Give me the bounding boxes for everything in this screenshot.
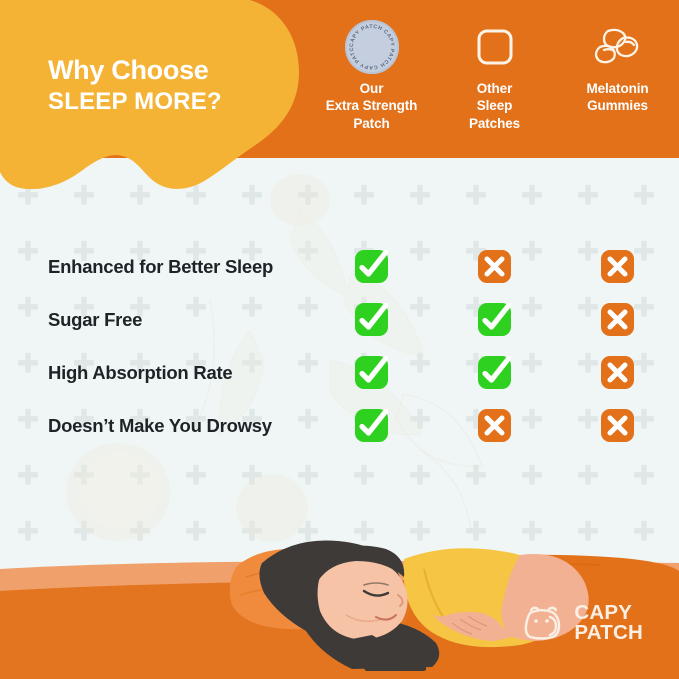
column-label-melatonin-gummies: Melatonin Gummies — [586, 80, 648, 115]
disc-ring-text: CAPY PATCH CAPY PATCH CAPY PATCH CAPY PA… — [345, 20, 395, 70]
x-mark-icon — [601, 303, 634, 336]
x-mark-icon — [601, 250, 634, 283]
row-marks — [310, 409, 679, 442]
feature-label: Enhanced for Better Sleep — [0, 256, 310, 278]
check-mark-icon — [355, 409, 388, 442]
comparison-table: Enhanced for Better Sleep — [0, 240, 679, 452]
row-marks — [310, 250, 679, 283]
capy-patch-disc-icon: CAPY PATCH CAPY PATCH CAPY PATCH CAPY PA… — [345, 18, 399, 76]
sleeping-woman-illustration — [0, 519, 679, 679]
x-mark-icon — [478, 409, 511, 442]
feature-label: High Absorption Rate — [0, 362, 310, 384]
title-line-2: SLEEP MORE? — [48, 86, 298, 117]
comparison-infographic: Why Choose SLEEP MORE? CAPY PATCH CAPY P… — [0, 0, 679, 679]
table-row: High Absorption Rate — [0, 346, 679, 399]
table-row: Doesn’t Make You Drowsy — [0, 399, 679, 452]
feature-label: Doesn’t Make You Drowsy — [0, 415, 310, 437]
x-mark-icon — [601, 409, 634, 442]
column-header-melatonin-gummies: Melatonin Gummies — [556, 0, 679, 160]
title-line-1: Why Choose — [48, 55, 298, 86]
column-header-our-patch: CAPY PATCH CAPY PATCH CAPY PATCH CAPY PA… — [310, 0, 433, 160]
feature-label: Sugar Free — [0, 309, 310, 331]
rounded-square-patch-icon — [475, 18, 515, 76]
mark-cell-our-patch — [310, 250, 433, 283]
page-title: Why Choose SLEEP MORE? — [48, 55, 298, 117]
check-mark-icon — [355, 250, 388, 283]
mark-cell-other-patches — [433, 250, 556, 283]
logo-wordmark: CAPY PATCH — [574, 603, 643, 643]
mark-cell-other-patches — [433, 356, 556, 389]
table-row: Enhanced for Better Sleep — [0, 240, 679, 293]
column-headers: CAPY PATCH CAPY PATCH CAPY PATCH CAPY PA… — [310, 0, 679, 160]
row-marks — [310, 356, 679, 389]
mark-cell-melatonin-gummies — [556, 409, 679, 442]
check-mark-icon — [478, 356, 511, 389]
mark-cell-melatonin-gummies — [556, 303, 679, 336]
mark-cell-melatonin-gummies — [556, 250, 679, 283]
logo-text-line2: PATCH — [574, 623, 643, 643]
svg-text:CAPY PATCH CAPY PATCH CAPY PAT: CAPY PATCH CAPY PATCH CAPY PATCH CAPY PA… — [345, 20, 395, 70]
mark-cell-our-patch — [310, 409, 433, 442]
gummies-icon — [592, 18, 644, 76]
mark-cell-our-patch — [310, 303, 433, 336]
column-label-other-patches: Other Sleep Patches — [469, 80, 520, 132]
x-mark-icon — [478, 250, 511, 283]
capybara-head-icon — [521, 604, 565, 642]
table-row: Sugar Free — [0, 293, 679, 346]
mark-cell-our-patch — [310, 356, 433, 389]
mark-cell-melatonin-gummies — [556, 356, 679, 389]
mark-cell-other-patches — [433, 409, 556, 442]
column-label-our-patch: Our Extra Strength Patch — [326, 80, 418, 132]
capy-patch-logo: CAPY PATCH — [521, 603, 643, 643]
check-mark-icon — [478, 303, 511, 336]
column-header-other-patches: Other Sleep Patches — [433, 0, 556, 160]
mark-cell-other-patches — [433, 303, 556, 336]
row-marks — [310, 303, 679, 336]
x-mark-icon — [601, 356, 634, 389]
check-mark-icon — [355, 356, 388, 389]
check-mark-icon — [355, 303, 388, 336]
